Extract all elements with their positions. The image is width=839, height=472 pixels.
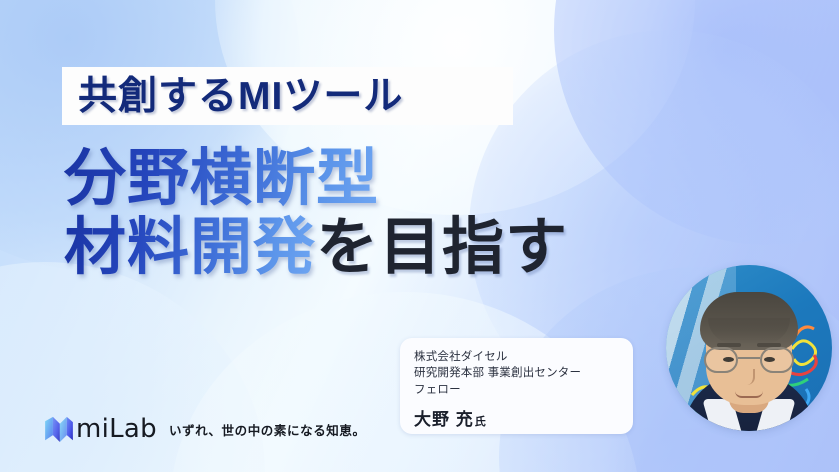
- speaker-portrait: [666, 265, 832, 431]
- background-blob-top-right: [554, 0, 839, 245]
- speaker-department: 研究開発本部 事業創出センター: [414, 365, 619, 381]
- brand-footer: miLab いずれ、世の中の素になる知恵。: [44, 416, 366, 442]
- headline-line-1: 分野横断型: [64, 144, 568, 213]
- speaker-company: 株式会社ダイセル: [414, 349, 619, 365]
- headline-line-2-highlight: 材料開発: [64, 213, 316, 282]
- speaker-name: 大野 充: [414, 405, 474, 430]
- headline-line-2: 材料開発を目指す: [64, 213, 568, 282]
- speaker-info-card: 株式会社ダイセル 研究開発本部 事業創出センター フェロー 大野 充 氏: [400, 338, 633, 434]
- speaker-name-row: 大野 充 氏: [414, 405, 619, 430]
- headline-line-1-text: 分野横断型: [64, 144, 379, 213]
- portrait-hair: [700, 292, 798, 350]
- kicker-text: 共創するMIツール: [78, 77, 403, 116]
- speaker-title: フェロー: [414, 382, 619, 398]
- milab-wordmark: miLab: [76, 416, 157, 442]
- headline: 分野横断型 材料開発を目指す: [64, 144, 568, 283]
- glasses-lens-left: [704, 347, 738, 373]
- glasses-bridge: [738, 357, 760, 359]
- portrait-photo: [666, 265, 832, 431]
- kicker-band: 共創するMIツール: [62, 67, 513, 125]
- presentation-slide: 共創するMIツール 分野横断型 材料開発を目指す 株式会社ダイセル 研究開発本部…: [0, 0, 839, 472]
- portrait-mouth: [735, 391, 763, 398]
- headline-line-2-suffix: を目指す: [316, 213, 568, 282]
- milab-logo-mark-icon: [44, 416, 74, 442]
- milab-logo: miLab: [44, 416, 157, 442]
- speaker-honorific: 氏: [475, 413, 486, 429]
- glasses-lens-right: [760, 347, 794, 373]
- brand-tagline: いずれ、世の中の素になる知恵。: [169, 420, 366, 439]
